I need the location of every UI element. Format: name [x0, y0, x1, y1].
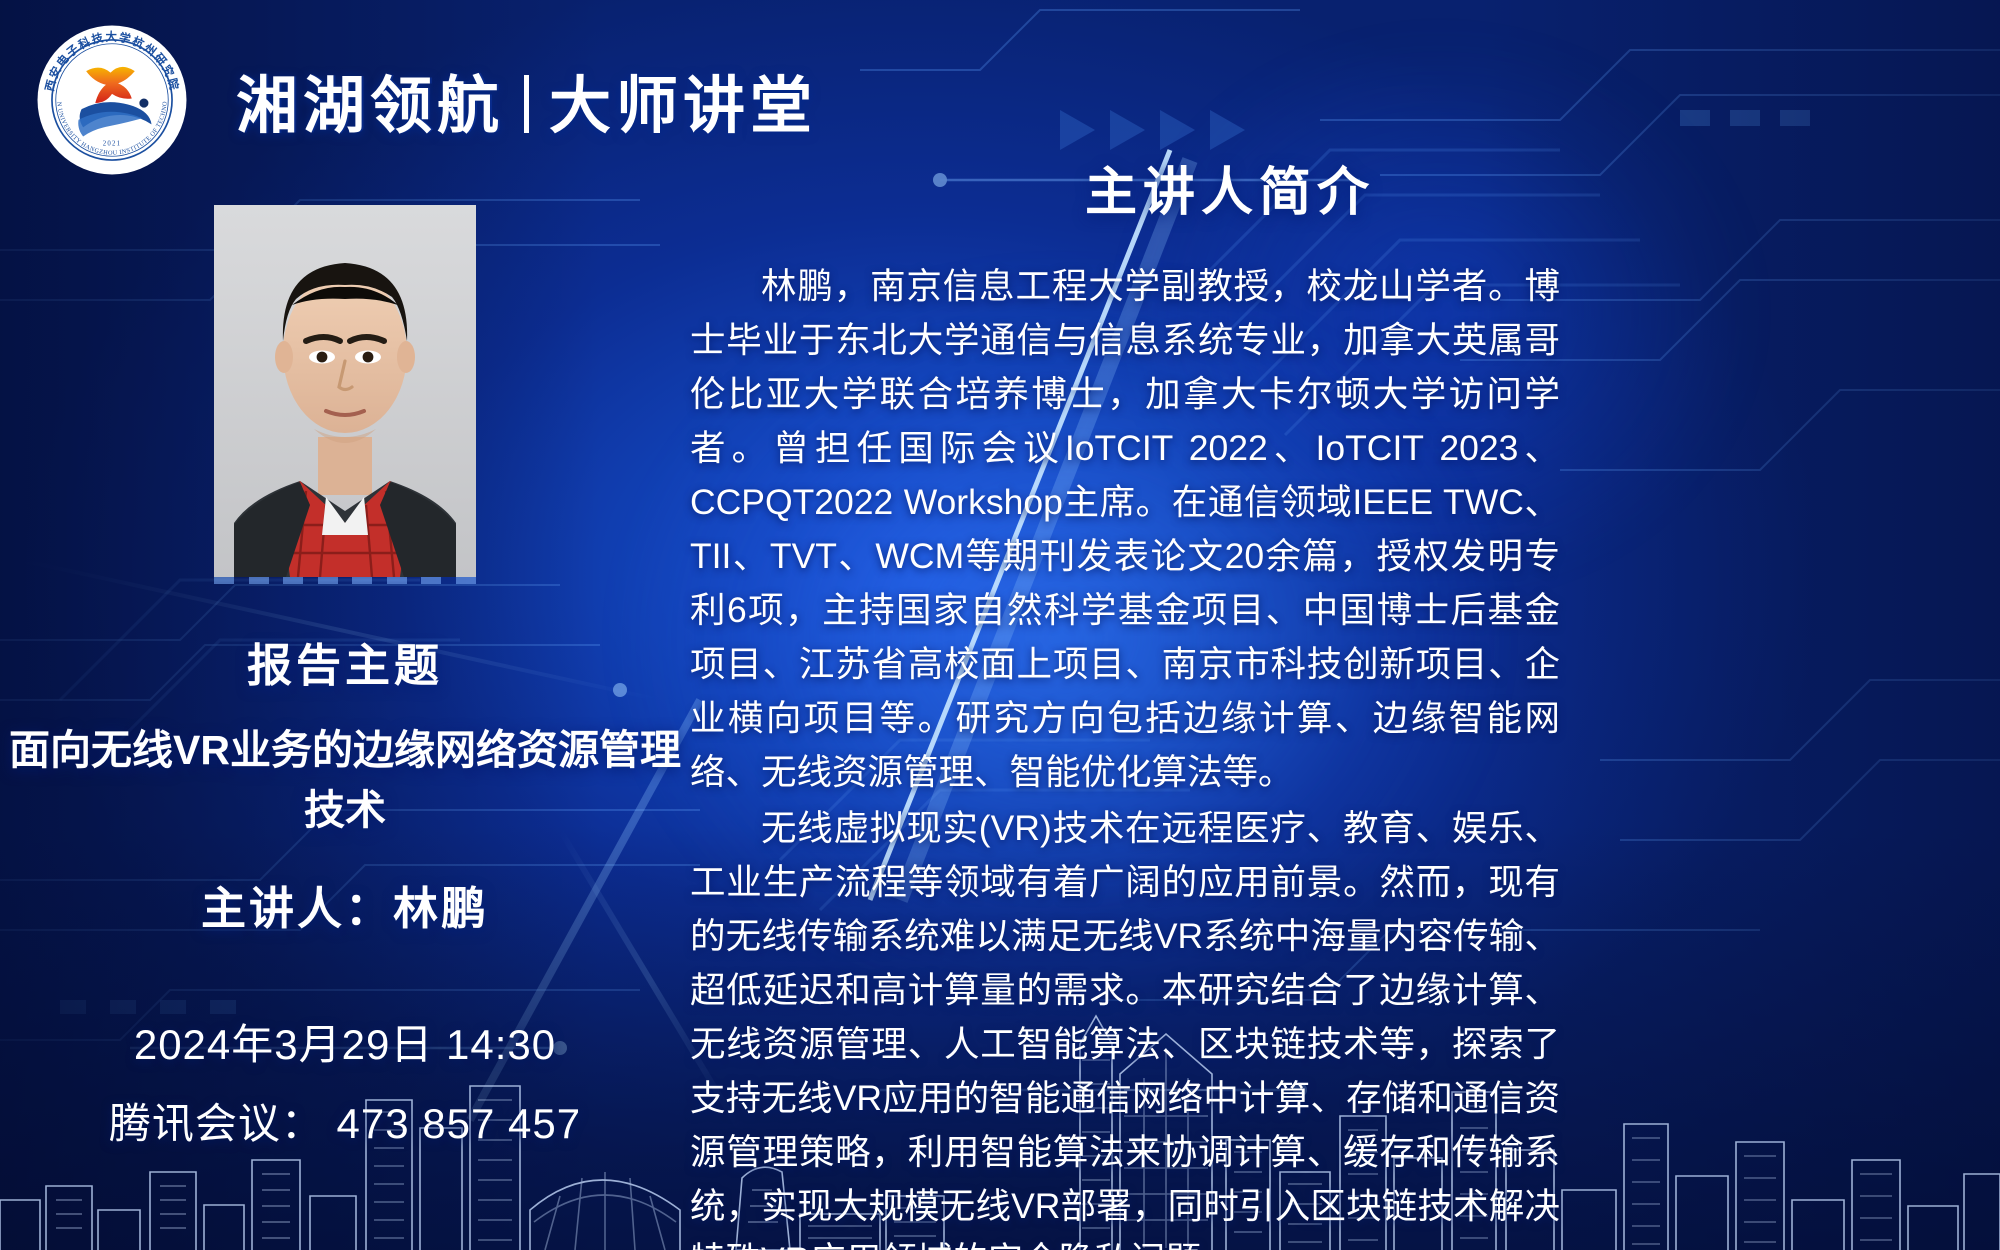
- meeting-info: 2024年3月29日 14:30 腾讯会议： 473 857 457: [109, 1011, 581, 1151]
- speaker-portrait-frame: [214, 205, 476, 577]
- report-topic-title: 面向无线VR业务的边缘网络资源管理技术: [5, 716, 685, 836]
- meeting-id: 腾讯会议： 473 857 457: [109, 1090, 581, 1151]
- svg-text:2021: 2021: [103, 141, 122, 148]
- report-topic-label: 报告主题: [247, 629, 443, 694]
- speaker-portrait-image: [214, 205, 476, 577]
- bio-paragraph: 无线虚拟现实(VR)技术在远程医疗、教育、娱乐、工业生产流程等领域有着广阔的应用…: [690, 801, 1560, 1250]
- university-logo: 西安电子科技大学杭州研究院 XIDIAN UNIVERSITY HANGZHOU…: [36, 24, 188, 176]
- speaker-name-line: 主讲人：林鹏: [201, 872, 489, 937]
- portrait-tick-marks: [214, 577, 476, 585]
- university-emblem-icon: 西安电子科技大学杭州研究院 XIDIAN UNIVERSITY HANGZHOU…: [36, 24, 188, 176]
- bio-body: 林鹏，南京信息工程大学副教授，校龙山学者。博士毕业于东北大学通信与信息系统专业，…: [690, 259, 2000, 1250]
- header-title-separator: [524, 75, 529, 133]
- header-title-block: 湘湖领航 大师讲堂: [236, 55, 817, 145]
- header-title-main: 湘湖领航: [236, 55, 504, 145]
- meeting-datetime: 2024年3月29日 14:30: [109, 1011, 581, 1072]
- right-column: 主讲人简介 林鹏，南京信息工程大学副教授，校龙山学者。博士毕业于东北大学通信与信…: [690, 150, 1990, 1250]
- header-title-sub: 大师讲堂: [549, 55, 817, 145]
- left-column: 报告主题 面向无线VR业务的边缘网络资源管理技术 主讲人：林鹏 2024年3月2…: [0, 205, 690, 1250]
- bio-paragraph: 林鹏，南京信息工程大学副教授，校龙山学者。博士毕业于东北大学通信与信息系统专业，…: [690, 259, 1560, 799]
- bio-heading: 主讲人简介: [690, 150, 1770, 225]
